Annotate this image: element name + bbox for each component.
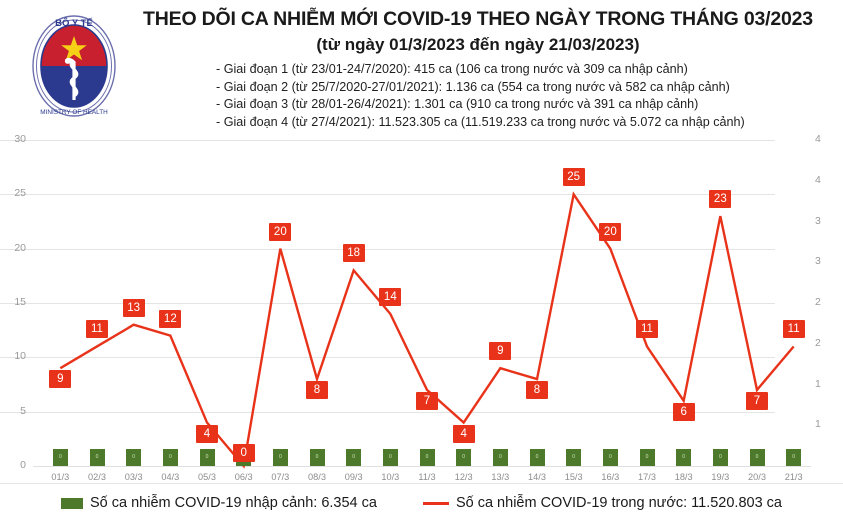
x-axis-tick-label: 13/3 (480, 472, 520, 483)
logo-text-top: BỘ Y TẾ (55, 17, 93, 29)
entrance-cases-bar-value: 0 (273, 449, 288, 466)
data-point-label: 9 (49, 370, 71, 388)
y-axis-right-tick: 3 (815, 216, 841, 227)
data-point-label: 6 (673, 403, 695, 421)
x-axis-tick-label: 02/3 (77, 472, 117, 483)
entrance-cases-bar: 0 (676, 449, 691, 466)
y-axis-left-tick: 0 (0, 460, 26, 471)
entrance-cases-bar: 0 (786, 449, 801, 466)
legend-swatch-red-icon (423, 502, 449, 505)
legend-label-domestic: Số ca nhiễm COVID-19 trong nước: 11.520.… (456, 495, 782, 511)
entrance-cases-bar-value: 0 (493, 449, 508, 466)
y-axis-left-tick: 15 (0, 297, 26, 308)
entrance-cases-bar: 0 (750, 449, 765, 466)
y-axis-right-tick: 2 (815, 297, 841, 308)
title-block: THEO DÕI CA NHIỄM MỚI COVID-19 THEO NGÀY… (128, 6, 828, 131)
y-axis-left-tick: 10 (0, 351, 26, 362)
entrance-cases-bar-value: 0 (383, 449, 398, 466)
entrance-cases-bar: 0 (346, 449, 361, 466)
entrance-cases-bar: 0 (603, 449, 618, 466)
data-point-label: 11 (86, 320, 108, 338)
x-axis-tick-label: 03/3 (114, 472, 154, 483)
x-axis-tick-label: 01/3 (40, 472, 80, 483)
y-axis-left-tick: 30 (0, 134, 26, 145)
entrance-cases-bar: 0 (273, 449, 288, 466)
entrance-cases-bar-value: 0 (750, 449, 765, 466)
data-point-label: 0 (233, 444, 255, 462)
data-point-label: 7 (416, 392, 438, 410)
x-axis-tick-label: 18/3 (664, 472, 704, 483)
data-point-label: 11 (783, 320, 805, 338)
data-point-label: 8 (526, 381, 548, 399)
x-axis-tick-label: 08/3 (297, 472, 337, 483)
entrance-cases-bar: 0 (713, 449, 728, 466)
entrance-cases-bar: 0 (200, 449, 215, 466)
entrance-cases-bar-value: 0 (346, 449, 361, 466)
gridline (0, 140, 775, 141)
entrance-cases-bar: 0 (640, 449, 655, 466)
legend-swatch-green-icon (61, 498, 83, 509)
x-axis-tick-label: 15/3 (554, 472, 594, 483)
entrance-cases-bar: 0 (420, 449, 435, 466)
data-point-label: 4 (196, 425, 218, 443)
x-axis-tick-label: 10/3 (370, 472, 410, 483)
x-axis-tick-label: 17/3 (627, 472, 667, 483)
legend-item-entrance: Số ca nhiễm COVID-19 nhập cảnh: 6.354 ca (61, 495, 377, 511)
y-axis-right-tick: 1 (815, 419, 841, 430)
x-axis-tick-label: 12/3 (444, 472, 484, 483)
x-axis-tick-label: 21/3 (774, 472, 814, 483)
entrance-cases-bar-value: 0 (53, 449, 68, 466)
phase-line-1: - Giai đoạn 1 (từ 23/01-24/7/2020): 415 … (216, 61, 828, 79)
legend-divider (0, 483, 843, 484)
data-point-label: 7 (746, 392, 768, 410)
y-axis-right-tick: 3 (815, 256, 841, 267)
entrance-cases-bar: 0 (530, 449, 545, 466)
x-axis-tick-label: 05/3 (187, 472, 227, 483)
entrance-cases-bar-value: 0 (310, 449, 325, 466)
chart-legend: Số ca nhiễm COVID-19 nhập cảnh: 6.354 ca… (0, 487, 843, 519)
x-axis-tick-label: 14/3 (517, 472, 557, 483)
data-point-label: 18 (343, 244, 365, 262)
entrance-cases-bar-value: 0 (676, 449, 691, 466)
phase-line-4: - Giai đoạn 4 (từ 27/4/2021): 11.523.305… (216, 114, 828, 132)
data-point-label: 11 (636, 320, 658, 338)
data-point-label: 23 (709, 190, 731, 208)
data-point-label: 8 (306, 381, 328, 399)
gridline (0, 194, 775, 195)
page-title: THEO DÕI CA NHIỄM MỚI COVID-19 THEO NGÀY… (128, 6, 828, 32)
entrance-cases-bar-value: 0 (786, 449, 801, 466)
y-axis-left-tick: 20 (0, 243, 26, 254)
page-subtitle: (từ ngày 01/3/2023 đến ngày 21/03/2023) (128, 32, 828, 57)
gridline (0, 357, 775, 358)
entrance-cases-bar-value: 0 (420, 449, 435, 466)
phase-list: - Giai đoạn 1 (từ 23/01-24/7/2020): 415 … (128, 61, 828, 131)
x-axis-tick-label: 16/3 (590, 472, 630, 483)
data-point-label: 20 (599, 223, 621, 241)
y-axis-right-tick: 2 (815, 338, 841, 349)
entrance-cases-bar-value: 0 (200, 449, 215, 466)
entrance-cases-bar-value: 0 (530, 449, 545, 466)
entrance-cases-bar-value: 0 (456, 449, 471, 466)
y-axis-right-tick: 4 (815, 134, 841, 145)
entrance-cases-bar-value: 0 (566, 449, 581, 466)
data-point-label: 25 (563, 168, 585, 186)
y-axis-left-tick: 25 (0, 188, 26, 199)
entrance-cases-bar: 0 (53, 449, 68, 466)
y-axis-left-tick: 5 (0, 406, 26, 417)
entrance-cases-bar: 0 (566, 449, 581, 466)
entrance-cases-bar-value: 0 (640, 449, 655, 466)
entrance-cases-bar-value: 0 (163, 449, 178, 466)
entrance-cases-bar: 0 (456, 449, 471, 466)
data-point-label: 14 (379, 288, 401, 306)
x-axis-tick-label: 20/3 (737, 472, 777, 483)
entrance-cases-bar-value: 0 (90, 449, 105, 466)
entrance-cases-bar-value: 0 (603, 449, 618, 466)
data-point-label: 9 (489, 342, 511, 360)
entrance-cases-bar: 0 (493, 449, 508, 466)
entrance-cases-bar-value: 0 (126, 449, 141, 466)
entrance-cases-bar-value: 0 (713, 449, 728, 466)
x-axis-tick-label: 11/3 (407, 472, 447, 483)
vietnam-ministry-of-health-emblem-icon: BỘ Y TẾ MINISTRY OF HEALTH (28, 10, 120, 122)
entrance-cases-bar: 0 (90, 449, 105, 466)
entrance-cases-bar: 0 (163, 449, 178, 466)
gridline (0, 249, 775, 250)
logo-text-bottom: MINISTRY OF HEALTH (40, 109, 108, 116)
y-axis-right-tick: 4 (815, 175, 841, 186)
x-axis-tick-label: 04/3 (150, 472, 190, 483)
legend-item-domestic: Số ca nhiễm COVID-19 trong nước: 11.520.… (423, 495, 782, 511)
entrance-cases-bar: 0 (310, 449, 325, 466)
gridline (0, 412, 775, 413)
phase-line-2: - Giai đoạn 2 (từ 25/7/2020-27/01/2021):… (216, 79, 828, 97)
x-axis-tick-label: 09/3 (334, 472, 374, 483)
phase-line-3: - Giai đoạn 3 (từ 28/01-26/4/2021): 1.30… (216, 96, 828, 114)
x-axis-baseline (33, 466, 811, 467)
entrance-cases-bar: 0 (126, 449, 141, 466)
data-point-label: 13 (123, 299, 145, 317)
x-axis-tick-label: 19/3 (700, 472, 740, 483)
data-point-label: 20 (269, 223, 291, 241)
data-point-label: 4 (453, 425, 475, 443)
entrance-cases-bar: 0 (383, 449, 398, 466)
y-axis-right-tick: 1 (815, 379, 841, 390)
data-point-label: 12 (159, 310, 181, 328)
x-axis-tick-label: 07/3 (260, 472, 300, 483)
chart-header: BỘ Y TẾ MINISTRY OF HEALTH THEO DÕI CA N… (0, 0, 843, 134)
x-axis-tick-label: 06/3 (224, 472, 264, 483)
legend-label-entrance: Số ca nhiễm COVID-19 nhập cảnh: 6.354 ca (90, 495, 377, 511)
